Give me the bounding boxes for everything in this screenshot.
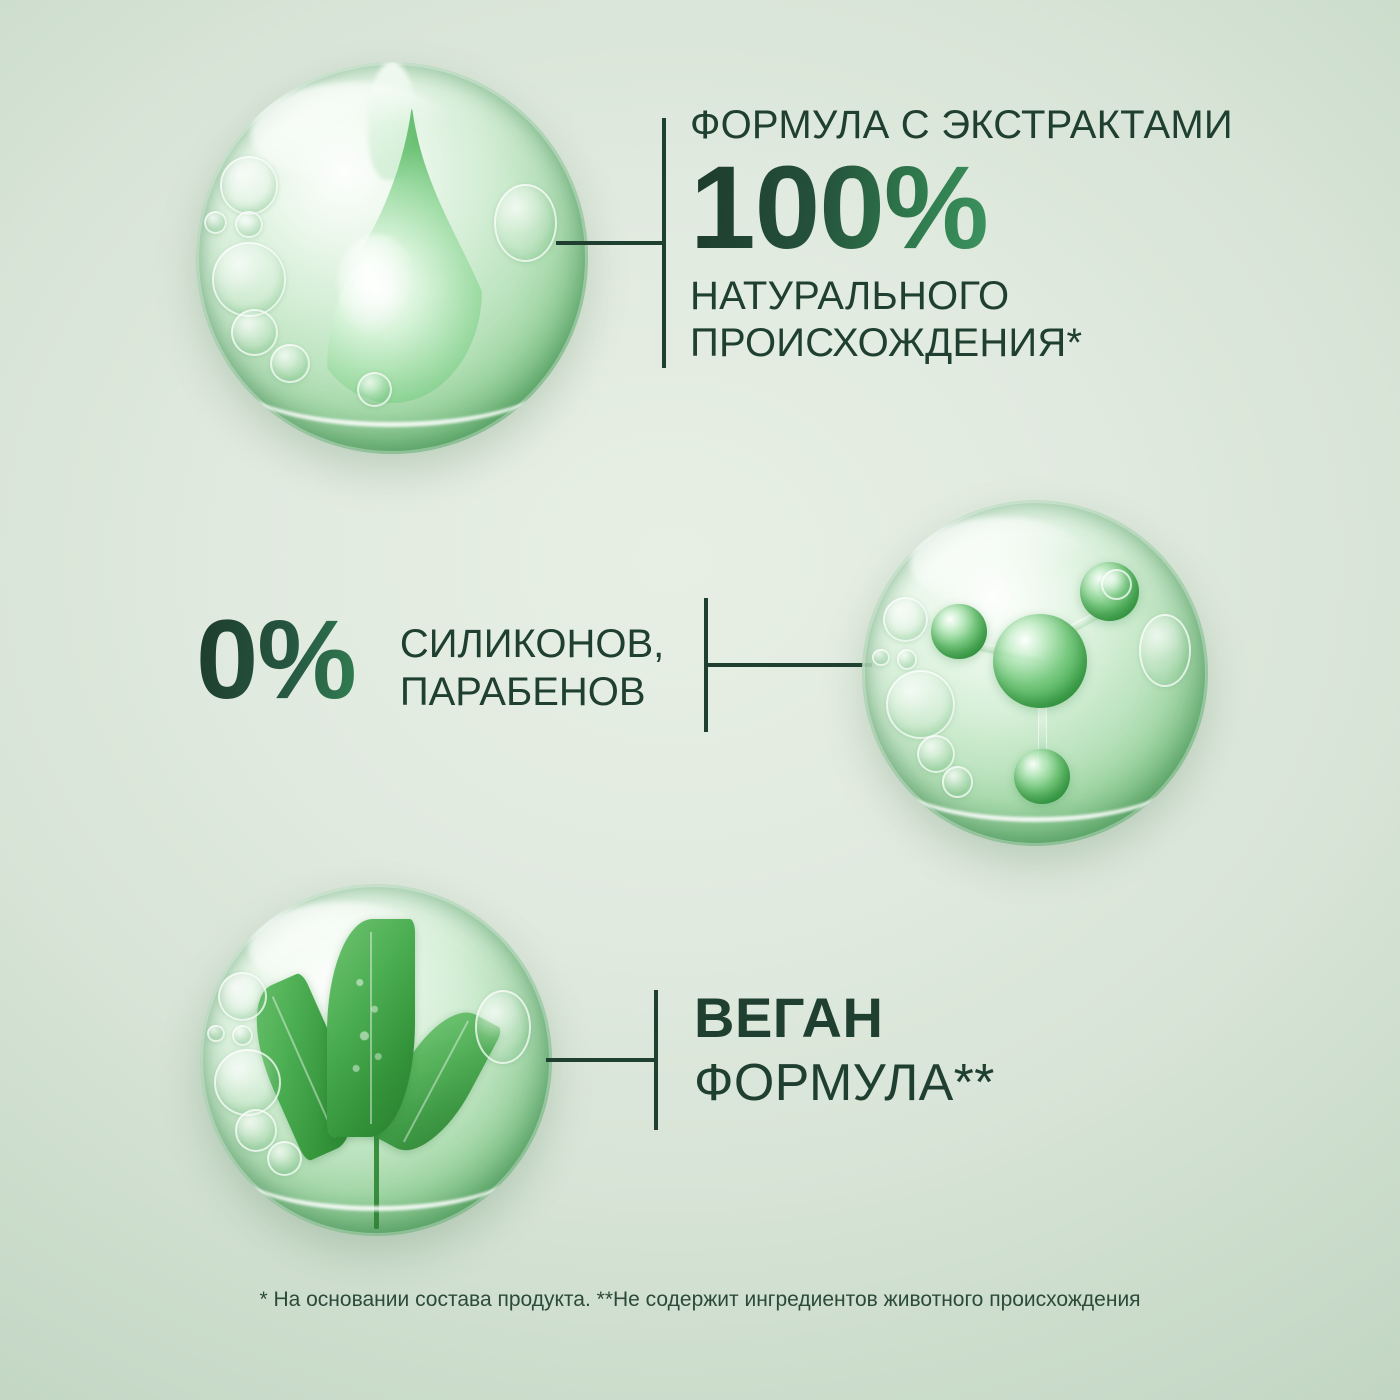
bubble xyxy=(207,1025,225,1043)
molecule-atom-upper-left xyxy=(931,604,986,659)
bubble xyxy=(886,670,955,739)
molecule-sphere-visual xyxy=(862,500,1208,846)
bubble xyxy=(883,597,928,642)
headline-100-percent: 100% xyxy=(690,149,988,267)
bubble xyxy=(872,649,889,666)
text-block-natural-origin: ФОРМУЛА С ЭКСТРАКТАМИ 100% НАТУРАЛЬНОГО … xyxy=(690,104,1330,368)
sphere-top-highlight xyxy=(251,82,455,184)
molecule-atom-bottom xyxy=(1014,749,1069,804)
connector-line-silicones xyxy=(704,598,874,732)
sub-silicones-line2: ПАРАБЕНОВ xyxy=(400,668,664,716)
bubble xyxy=(220,156,279,215)
leaf-sphere-visual xyxy=(200,884,552,1236)
leaf-water-droplets xyxy=(346,950,392,1098)
bubble xyxy=(494,184,557,262)
sphere-top-highlight xyxy=(910,517,1090,607)
bubble xyxy=(235,1109,277,1151)
bubble xyxy=(212,242,286,316)
bubble xyxy=(1101,569,1132,600)
connector-horizontal xyxy=(704,663,872,667)
sub-silicones-line1: СИЛИКОНОВ, xyxy=(400,620,664,668)
bubble xyxy=(357,372,392,407)
molecule-atom-center xyxy=(993,614,1086,707)
bubble xyxy=(218,972,267,1021)
droplet-sphere-visual xyxy=(196,62,588,454)
bubble xyxy=(267,1141,302,1176)
connector-horizontal xyxy=(546,1058,658,1062)
connector-vertical xyxy=(662,118,666,368)
bubble xyxy=(231,309,278,356)
text-block-zero-silicones: 0% СИЛИКОНОВ, ПАРАБЕНОВ xyxy=(196,604,676,716)
bubble xyxy=(475,990,531,1064)
bubble xyxy=(235,211,262,238)
footnote-text: * На основании состава продукта. **Не со… xyxy=(0,1288,1400,1312)
bubble xyxy=(214,1049,281,1116)
bubble xyxy=(232,1025,253,1046)
sub-natural-line2: ПРОИСХОЖДЕНИЯ* xyxy=(690,320,1330,367)
bubble xyxy=(897,649,918,670)
headline-0-percent: 0% xyxy=(196,604,356,716)
bubble xyxy=(1139,614,1191,687)
connector-horizontal xyxy=(556,241,666,245)
connector-line-natural xyxy=(556,118,676,368)
sub-vegan-formula: ФОРМУЛА** xyxy=(694,1054,1214,1112)
connector-line-vegan xyxy=(546,990,670,1130)
sub-natural-line1: НАТУРАЛЬНОГО xyxy=(690,273,1330,320)
bubble xyxy=(942,766,973,797)
bubble xyxy=(270,344,309,383)
kicker-natural: ФОРМУЛА С ЭКСТРАКТАМИ xyxy=(690,104,1330,147)
connector-vertical xyxy=(654,990,658,1130)
headline-vegan: ВЕГАН xyxy=(694,988,1214,1048)
text-block-vegan: ВЕГАН ФОРМУЛА** xyxy=(694,988,1214,1113)
droplet-highlight xyxy=(337,234,415,336)
product-benefits-poster: ФОРМУЛА С ЭКСТРАКТАМИ 100% НАТУРАЛЬНОГО … xyxy=(0,0,1400,1400)
